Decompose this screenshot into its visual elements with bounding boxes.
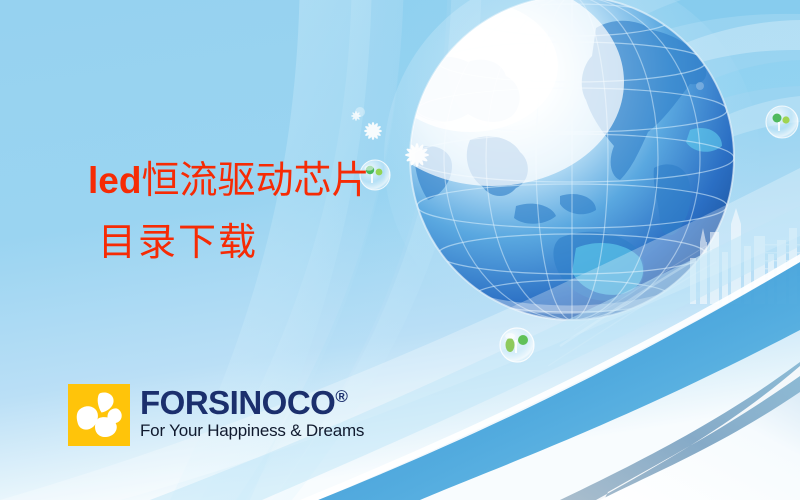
forsinoco-flower-mark-icon [68,384,130,446]
brand-tagline: For Your Happiness & Dreams [140,421,364,441]
brand-name-text: FORSINOCO [140,384,335,421]
brand-name: FORSINOCO® [140,386,364,419]
company-logo[interactable]: FORSINOCO® For Your Happiness & Dreams [68,384,364,446]
bubble-with-green-sprout-center [500,328,534,362]
title-latin-text: led [88,160,141,201]
small-bubble-b [696,82,704,90]
banner-canvas: led恒流驱动芯片 目录下载 FORSINOCO® [0,0,800,500]
title-line-1: led恒流驱动芯片 [88,162,369,202]
logo-wordmark: FORSINOCO® For Your Happiness & Dreams [140,384,364,441]
bubble-with-green-sprout-right [766,106,798,138]
banner-title: led恒流驱动芯片 目录下载 [88,162,369,264]
registered-trademark-icon: ® [335,387,348,406]
title-cjk-text: 恒流驱动芯片 [141,160,369,202]
title-line-2: 目录下载 [98,224,369,264]
small-bubble-a [355,107,365,117]
